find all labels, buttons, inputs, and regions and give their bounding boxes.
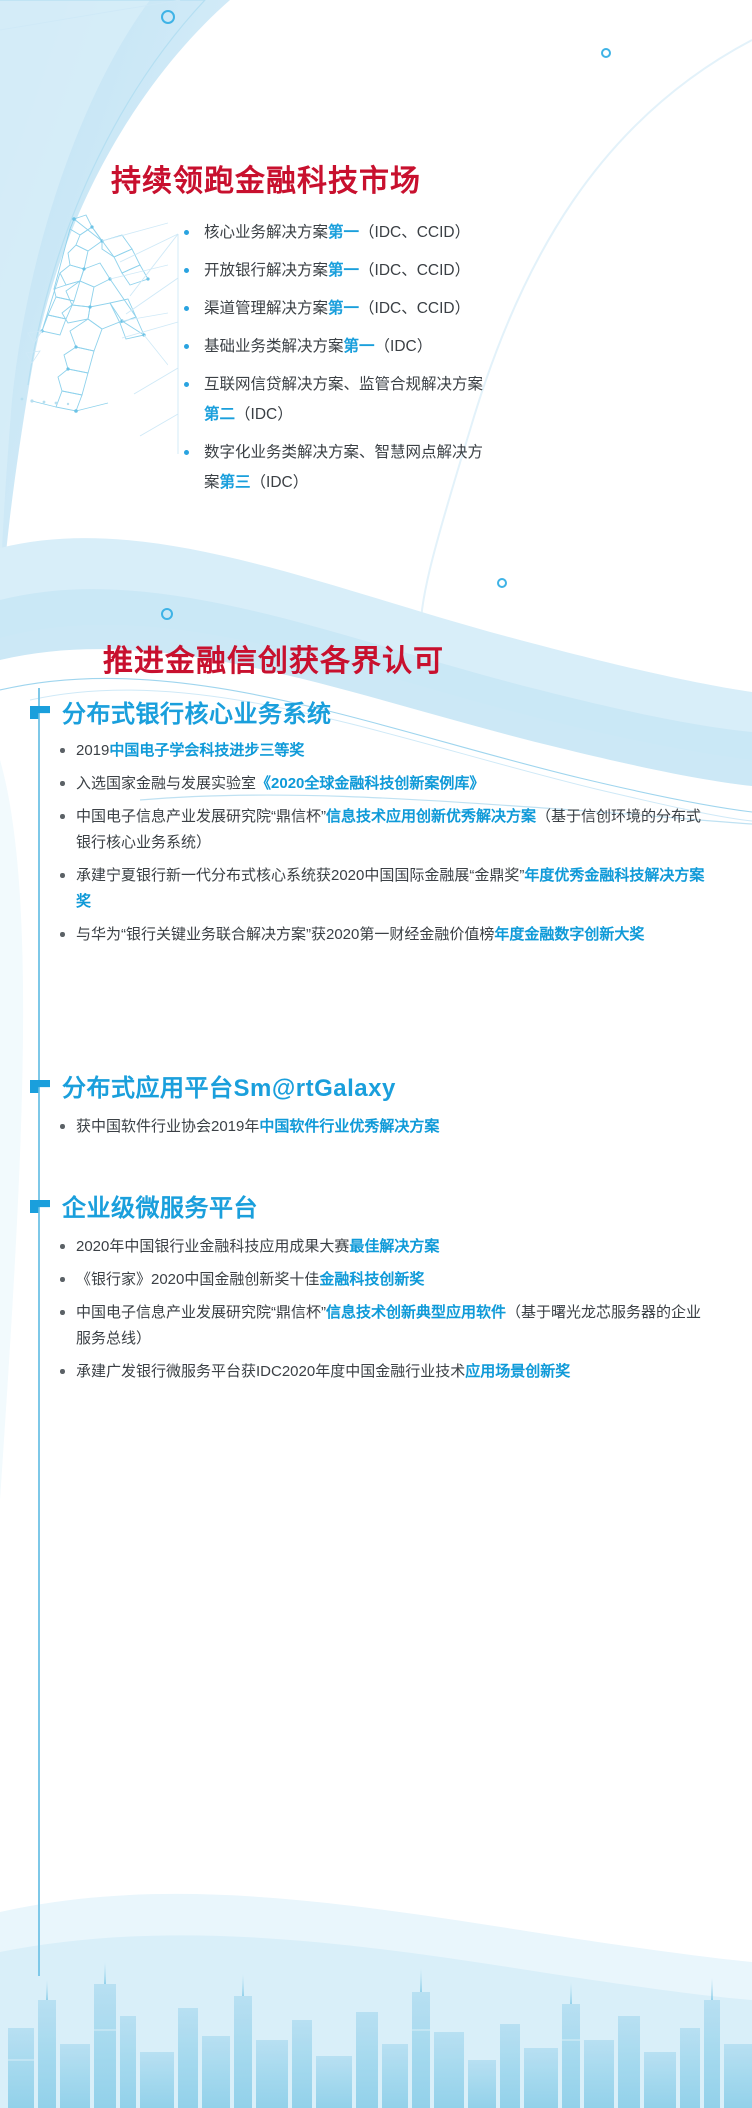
group-heading: 分布式应用平台Sm@rtGalaxy [62, 1068, 396, 1103]
item-text: 中国电子信息产业发展研究院“鼎信杯” [76, 1304, 326, 1321]
bullet-dot-icon [60, 932, 65, 937]
bullet-dot-icon [60, 748, 65, 753]
bullet-dot-icon [60, 781, 65, 786]
list-item: 承建广发银行微服务平台获IDC2020年度中国金融行业技术应用场景创新奖 [58, 1359, 714, 1385]
list-item: 互联网信贷解决方案、监管合规解决方案第二（IDC） [178, 370, 493, 430]
section2-title: 推进金融信创获各界认可 [103, 636, 444, 680]
item-source: （IDC） [235, 406, 293, 423]
group-heading: 分布式银行核心业务系统 [62, 694, 332, 729]
item-source: （IDC、CCID） [359, 300, 470, 317]
bullet-dot-icon [60, 1369, 65, 1374]
list-item: 承建宁夏银行新一代分布式核心系统获2020中国国际金融展“金鼎奖”年度优秀金融科… [58, 863, 714, 915]
item-rank: 第一 [344, 338, 375, 355]
item-text: 2020年中国银行业金融科技应用成果大赛 [76, 1238, 349, 1255]
item-text: 《银行家》2020中国金融创新奖十佳 [76, 1271, 319, 1288]
group-items: 2020年中国银行业金融科技应用成果大赛最佳解决方案 《银行家》2020中国金融… [58, 1234, 714, 1392]
item-text: 渠道管理解决方案 [204, 300, 328, 317]
bullet-dot-icon [184, 230, 189, 235]
section-leading-fintech-market: 持续领跑金融科技市场 [0, 0, 752, 640]
bullet-dot-icon [60, 1277, 65, 1282]
list-item: 数字化业务类解决方案、智慧网点解决方案第三（IDC） [178, 438, 493, 498]
item-highlight: 最佳解决方案 [349, 1238, 439, 1255]
item-rank: 第一 [328, 300, 359, 317]
item-highlight: 中国软件行业优秀解决方案 [259, 1118, 439, 1135]
group-items: 2019中国电子学会科技进步三等奖 入选国家金融与发展实验室《2020全球金融科… [58, 738, 714, 955]
list-item: 2020年中国银行业金融科技应用成果大赛最佳解决方案 [58, 1234, 714, 1260]
item-highlight: 应用场景创新奖 [465, 1363, 570, 1380]
list-item: 渠道管理解决方案第一（IDC、CCID） [178, 294, 718, 324]
item-text: 承建宁夏银行新一代分布式核心系统获2020中国国际金融展“金鼎奖” [76, 867, 524, 884]
group-items: 获中国软件行业协会2019年中国软件行业优秀解决方案 [58, 1114, 714, 1147]
infographic-page: 持续领跑金融科技市场 [0, 0, 752, 2108]
item-text: 互联网信贷解决方案、监管合规解决方案 [204, 376, 483, 393]
item-text: 开放银行解决方案 [204, 262, 328, 279]
item-highlight: 年度金融数字创新大奖 [494, 926, 644, 943]
list-item: 获中国软件行业协会2019年中国软件行业优秀解决方案 [58, 1114, 714, 1140]
bullet-dot-icon [60, 1124, 65, 1129]
bullet-dot-icon [60, 814, 65, 819]
item-source: （IDC） [375, 338, 433, 355]
list-item: 核心业务解决方案第一（IDC、CCID） [178, 218, 718, 248]
list-item: 入选国家金融与发展实验室《2020全球金融科技创新案例库》 [58, 771, 714, 797]
item-rank: 第一 [328, 224, 359, 241]
timeline-spine [38, 688, 40, 1976]
item-rank: 第三 [220, 474, 251, 491]
list-item: 《银行家》2020中国金融创新奖十佳金融科技创新奖 [58, 1267, 714, 1293]
flag-marker-icon [30, 706, 50, 719]
item-text: 基础业务类解决方案 [204, 338, 344, 355]
item-highlight: 信息技术创新典型应用软件 [326, 1304, 506, 1321]
bullet-dot-icon [184, 450, 189, 455]
bullet-dot-icon [184, 382, 189, 387]
item-highlight: 信息技术应用创新优秀解决方案 [326, 808, 536, 825]
section1-title: 持续领跑金融科技市场 [111, 156, 421, 200]
item-highlight: 《2020全球金融科技创新案例库》 [256, 775, 484, 792]
bullet-dot-icon [60, 873, 65, 878]
list-item: 与华为“银行关键业务联合解决方案”获2020第一财经金融价值榜年度金融数字创新大… [58, 922, 714, 948]
section1-bullet-list: 核心业务解决方案第一（IDC、CCID） 开放银行解决方案第一（IDC、CCID… [178, 218, 718, 506]
item-source: （IDC、CCID） [359, 224, 470, 241]
item-highlight: 中国电子学会科技进步三等奖 [109, 742, 304, 759]
item-text: 入选国家金融与发展实验室 [76, 775, 256, 792]
bullet-dot-icon [60, 1310, 65, 1315]
item-text: 中国电子信息产业发展研究院“鼎信杯” [76, 808, 326, 825]
item-text: 承建广发银行微服务平台获IDC2020年度中国金融行业技术 [76, 1363, 465, 1380]
item-text: 2019 [76, 742, 109, 759]
bullet-dot-icon [184, 306, 189, 311]
list-item: 中国电子信息产业发展研究院“鼎信杯”信息技术创新典型应用软件（基于曙光龙芯服务器… [58, 1300, 714, 1352]
item-rank: 第一 [328, 262, 359, 279]
list-item: 2019中国电子学会科技进步三等奖 [58, 738, 714, 764]
item-text: 与华为“银行关键业务联合解决方案”获2020第一财经金融价值榜 [76, 926, 494, 943]
item-source: （IDC） [251, 474, 309, 491]
flag-marker-icon [30, 1200, 50, 1213]
flag-marker-icon [30, 1080, 50, 1093]
bullet-dot-icon [184, 268, 189, 273]
bullet-dot-icon [184, 344, 189, 349]
item-highlight: 金融科技创新奖 [319, 1271, 424, 1288]
bullet-dot-icon [60, 1244, 65, 1249]
list-item: 中国电子信息产业发展研究院“鼎信杯”信息技术应用创新优秀解决方案（基于信创环境的… [58, 804, 714, 856]
group-heading: 企业级微服务平台 [62, 1188, 258, 1223]
item-text: 获中国软件行业协会2019年 [76, 1118, 259, 1135]
section-fintech-innovation-recognition: 推进金融信创获各界认可 分布式银行核心业务系统 2019中国电子学会科技进步三等… [0, 600, 752, 2108]
list-item: 基础业务类解决方案第一（IDC） [178, 332, 718, 362]
list-item: 开放银行解决方案第一（IDC、CCID） [178, 256, 718, 286]
item-rank: 第二 [204, 406, 235, 423]
item-text: 核心业务解决方案 [204, 224, 328, 241]
item-source: （IDC、CCID） [359, 262, 470, 279]
